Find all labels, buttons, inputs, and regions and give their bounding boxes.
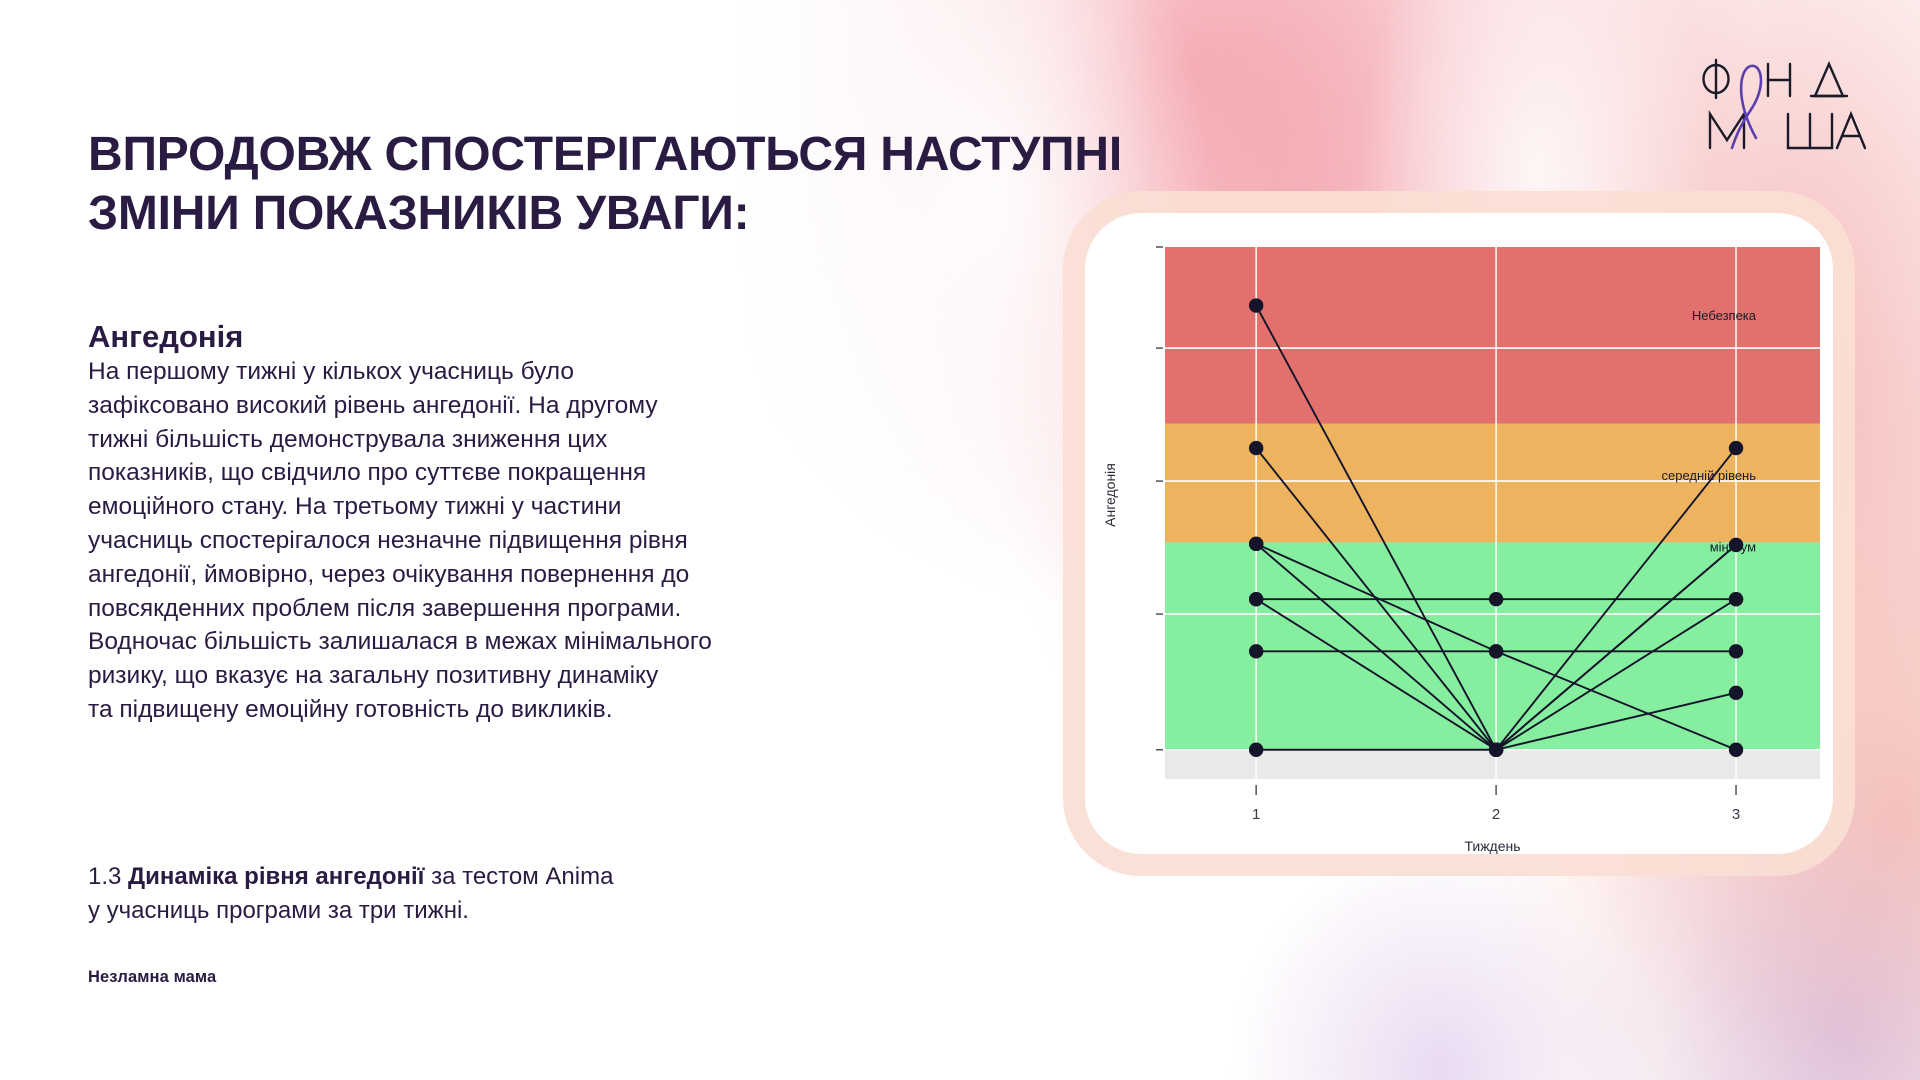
body-line: зафіксовано високий рівень ангедонії. На…: [88, 389, 808, 423]
anhedonia-line-chart: 123ТижденьАнгедоніямінімумсередній рівен…: [1085, 213, 1833, 854]
data-point: [1729, 644, 1743, 658]
caption-bold: Динаміка рівня ангедонії: [128, 863, 424, 890]
body-line: та підвищену емоційну готовність до викл…: [88, 693, 808, 727]
body-line: емоційного стану. На третьому тижні у ча…: [88, 490, 808, 524]
y-axis-title: Ангедонія: [1102, 463, 1118, 527]
body-line: ангедонії, ймовірно, через очікування по…: [88, 558, 808, 592]
chart-card: 123ТижденьАнгедоніямінімумсередній рівен…: [1085, 213, 1833, 854]
caption-second-line: у учасниць програми за три тижні.: [88, 894, 848, 928]
data-point: [1729, 538, 1743, 552]
section-subheading: Ангедонія: [88, 319, 243, 355]
slide-root: ФОНД МАША ВПРОДОВЖ СПОСТЕРІГАЮТЬСЯ НАСТУ…: [0, 0, 1920, 1080]
data-point: [1249, 592, 1263, 606]
data-point: [1249, 644, 1263, 658]
x-axis-tick-label: 2: [1492, 806, 1500, 823]
caption-first-line: 1.3 Динаміка рівня ангедонії за тестом A…: [88, 860, 848, 894]
data-point: [1489, 743, 1503, 757]
x-axis-tick-label: 3: [1732, 806, 1740, 823]
footer-brand: Незламна мама: [88, 968, 216, 987]
data-point: [1489, 644, 1503, 658]
data-point: [1729, 743, 1743, 757]
data-point: [1249, 298, 1263, 312]
caption-rest: за тестом Anima: [424, 863, 613, 890]
body-line: учасниць спостерігалося незначне підвище…: [88, 524, 808, 558]
data-point: [1249, 743, 1263, 757]
ribbon-icon: [1732, 66, 1761, 148]
data-point: [1249, 537, 1263, 551]
data-point: [1729, 686, 1743, 700]
fond-masha-logo: ФОНД МАША: [1696, 52, 1866, 158]
body-line: повсякденних проблем після завершення пр…: [88, 592, 808, 626]
figure-caption: 1.3 Динаміка рівня ангедонії за тестом A…: [88, 860, 848, 928]
headline-line-1: ВПРОДОВЖ СПОСТЕРІГАЮТЬСЯ НАСТУПНІ: [88, 126, 1268, 185]
data-point: [1729, 441, 1743, 455]
body-line: ризику, що вказує на загальну позитивну …: [88, 659, 808, 693]
band-label-Небезпека: Небезпека: [1692, 308, 1757, 323]
data-point: [1249, 441, 1263, 455]
body-paragraph: На першому тижні у кількох учасниць було…: [88, 355, 808, 727]
x-axis-title: Тиждень: [1464, 838, 1520, 854]
body-line: показників, що свідчило про суттєве покр…: [88, 456, 808, 490]
data-point: [1729, 592, 1743, 606]
body-line: Водночас більшість залишалася в межах мі…: [88, 625, 808, 659]
data-point: [1489, 592, 1503, 606]
body-line: На першому тижні у кількох учасниць було: [88, 355, 808, 389]
logo-icon: [1696, 52, 1866, 158]
body-line: тижні більшість демонструвала зниження ц…: [88, 423, 808, 457]
chart-band-Небезпека: [1165, 247, 1820, 424]
x-axis-tick-label: 1: [1252, 806, 1260, 823]
caption-number: 1.3: [88, 863, 128, 890]
